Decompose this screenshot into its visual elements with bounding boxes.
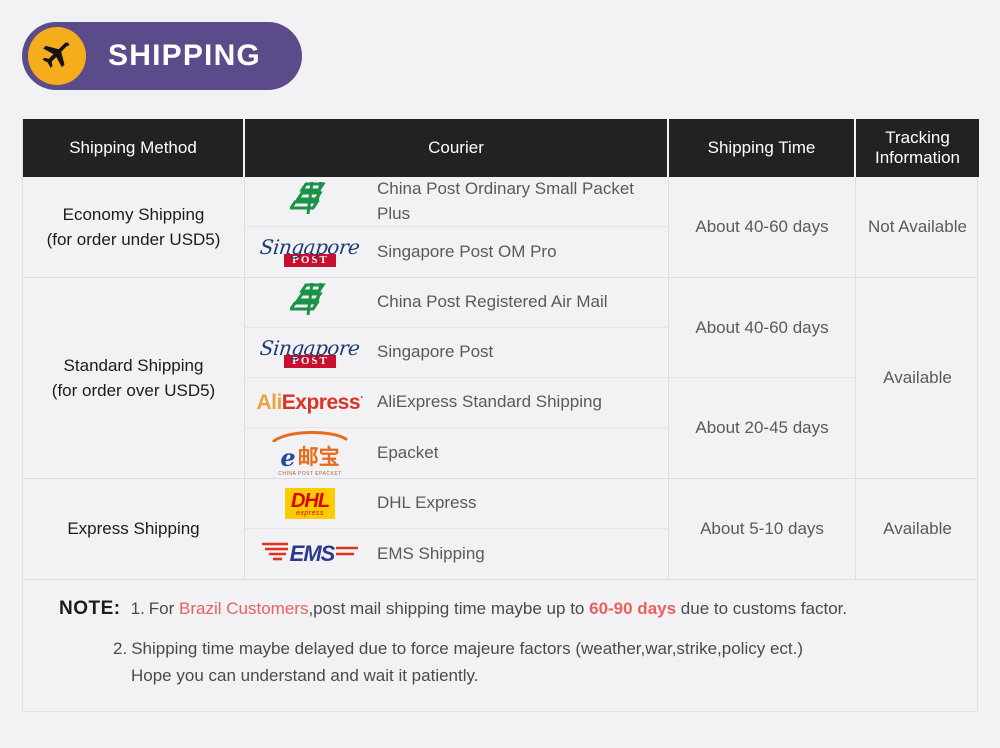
- shipping-table: Shipping Method Courier Shipping Time Tr…: [22, 119, 978, 712]
- dhl-wordmark: DHL: [291, 491, 329, 511]
- shipping-method-condition: (for order under USD5): [47, 227, 221, 253]
- courier-logo: SingaporePOST: [255, 338, 365, 368]
- shipping-time-list: About 40-60 days: [669, 177, 856, 277]
- cell-shipping-method: Express Shipping: [23, 479, 245, 579]
- cell-shipping-time: About 40-60 days: [669, 278, 855, 378]
- note-item-2: 2.Shipping time maybe delayed due to for…: [23, 636, 977, 689]
- courier-logo: EMS: [255, 541, 365, 568]
- shipping-method-name: Standard Shipping: [52, 353, 215, 379]
- note-1-number: 1.: [131, 599, 145, 618]
- ems-right-stripes-icon: [336, 545, 358, 564]
- shipping-method-condition: (for order over USD5): [52, 378, 215, 404]
- courier-list: China Post Ordinary Small Packet PlusSin…: [245, 177, 669, 277]
- dhl-logo: DHLexpress: [285, 488, 335, 519]
- courier-row: SingaporePOSTSingapore Post OM Pro: [245, 227, 668, 277]
- dhl-subtitle: express: [296, 510, 324, 517]
- singapore-post-wordmark: Singapore: [259, 338, 361, 358]
- note-2-line1: Shipping time maybe delayed due to force…: [131, 639, 803, 658]
- note-1-middle: ,post mail shipping time maybe up to: [308, 599, 589, 618]
- table-row: Economy Shipping(for order under USD5)Ch…: [23, 177, 977, 277]
- ems-wordmark: EMS: [290, 541, 335, 567]
- ems-logo: EMS: [262, 541, 359, 568]
- courier-name: Epacket: [365, 441, 438, 466]
- epacket-subtitle: CHINA POST EPACKET: [278, 472, 342, 477]
- cell-shipping-time: About 5-10 days: [669, 479, 855, 579]
- note-label: NOTE:: [59, 598, 121, 620]
- header-tracking-information: Tracking Information: [856, 119, 979, 177]
- china-post-logo: [290, 281, 330, 324]
- courier-row: AliExpress·AliExpress Standard Shipping: [245, 378, 668, 428]
- header-shipping-method: Shipping Method: [23, 119, 245, 177]
- shipping-time-list: About 5-10 days: [669, 479, 856, 579]
- note-section: NOTE: 1.For Brazil Customers,post mail s…: [23, 579, 977, 711]
- courier-name: Singapore Post OM Pro: [365, 240, 557, 265]
- courier-name: China Post Registered Air Mail: [365, 290, 608, 315]
- cell-tracking-information: Not Available: [856, 177, 979, 277]
- singapore-post-logo: SingaporePOST: [260, 338, 359, 368]
- courier-name: EMS Shipping: [365, 542, 485, 567]
- courier-logo: [255, 281, 365, 324]
- table-row: Express ShippingDHLexpressDHL ExpressEMS…: [23, 478, 977, 579]
- cell-shipping-time: About 40-60 days: [669, 177, 855, 277]
- courier-row: EMSEMS Shipping: [245, 529, 668, 579]
- note-item-1: NOTE: 1.For Brazil Customers,post mail s…: [23, 596, 977, 622]
- table-header-row: Shipping Method Courier Shipping Time Tr…: [23, 119, 977, 177]
- courier-logo: AliExpress·: [255, 390, 365, 415]
- cell-tracking-information: Available: [856, 278, 979, 478]
- aliexpress-express: Express: [282, 391, 360, 414]
- cell-shipping-method: Economy Shipping(for order under USD5): [23, 177, 245, 277]
- courier-list: China Post Registered Air MailSingaporeP…: [245, 278, 669, 478]
- courier-name: China Post Ordinary Small Packet Plus: [365, 177, 668, 226]
- note-1-before: For: [149, 599, 179, 618]
- courier-name: DHL Express: [365, 491, 477, 516]
- courier-logo: [255, 180, 365, 223]
- courier-logo: e邮宝CHINA POST EPACKET: [255, 430, 365, 477]
- courier-list: DHLexpressDHL ExpressEMSEMS Shipping: [245, 479, 669, 579]
- note-2-line2: Hope you can understand and wait it pati…: [113, 663, 977, 689]
- cell-tracking-information: Available: [856, 479, 979, 579]
- ems-left-stripes-icon: [262, 541, 288, 568]
- shipping-info-page: SHIPPING Shipping Method Courier Shippin…: [0, 0, 1000, 748]
- cell-shipping-time: About 20-45 days: [669, 378, 855, 478]
- courier-name: AliExpress Standard Shipping: [365, 390, 602, 415]
- shipping-time-list: About 40-60 daysAbout 20-45 days: [669, 278, 856, 478]
- note-1-highlight-brazil: Brazil Customers: [179, 599, 308, 618]
- courier-row: DHLexpressDHL Express: [245, 479, 668, 529]
- china-post-logo: [290, 180, 330, 223]
- epacket-letter-e: e: [280, 446, 295, 470]
- aliexpress-ali: Ali: [256, 391, 281, 414]
- note-1-after: due to customs factor.: [676, 599, 847, 618]
- epacket-logo: e邮宝CHINA POST EPACKET: [270, 430, 350, 477]
- courier-row: SingaporePOSTSingapore Post: [245, 328, 668, 378]
- courier-row: China Post Ordinary Small Packet Plus: [245, 177, 668, 227]
- cell-shipping-method: Standard Shipping(for order over USD5): [23, 278, 245, 478]
- courier-name: Singapore Post: [365, 340, 493, 365]
- singapore-post-logo: SingaporePOST: [260, 237, 359, 267]
- header-courier: Courier: [245, 119, 669, 177]
- banner-title: SHIPPING: [108, 39, 261, 73]
- epacket-chinese: 邮宝: [298, 447, 340, 468]
- singapore-post-wordmark: Singapore: [259, 237, 361, 257]
- courier-row: China Post Registered Air Mail: [245, 278, 668, 328]
- epacket-wordmark: e邮宝: [280, 446, 339, 470]
- airplane-icon: [28, 27, 86, 85]
- courier-logo: DHLexpress: [255, 488, 365, 519]
- shipping-method-name: Express Shipping: [67, 516, 199, 542]
- header-shipping-time: Shipping Time: [669, 119, 856, 177]
- aliexpress-logo: AliExpress·: [256, 390, 363, 415]
- note-1-highlight-days: 60-90 days: [589, 599, 676, 618]
- aliexpress-trademark: ·: [360, 390, 364, 404]
- table-body: Economy Shipping(for order under USD5)Ch…: [23, 177, 977, 579]
- table-row: Standard Shipping(for order over USD5)Ch…: [23, 277, 977, 478]
- note-2-number: 2.: [113, 639, 127, 658]
- shipping-method-name: Economy Shipping: [47, 202, 221, 228]
- courier-logo: SingaporePOST: [255, 237, 365, 267]
- courier-row: e邮宝CHINA POST EPACKETEpacket: [245, 428, 668, 478]
- shipping-banner: SHIPPING: [22, 22, 302, 90]
